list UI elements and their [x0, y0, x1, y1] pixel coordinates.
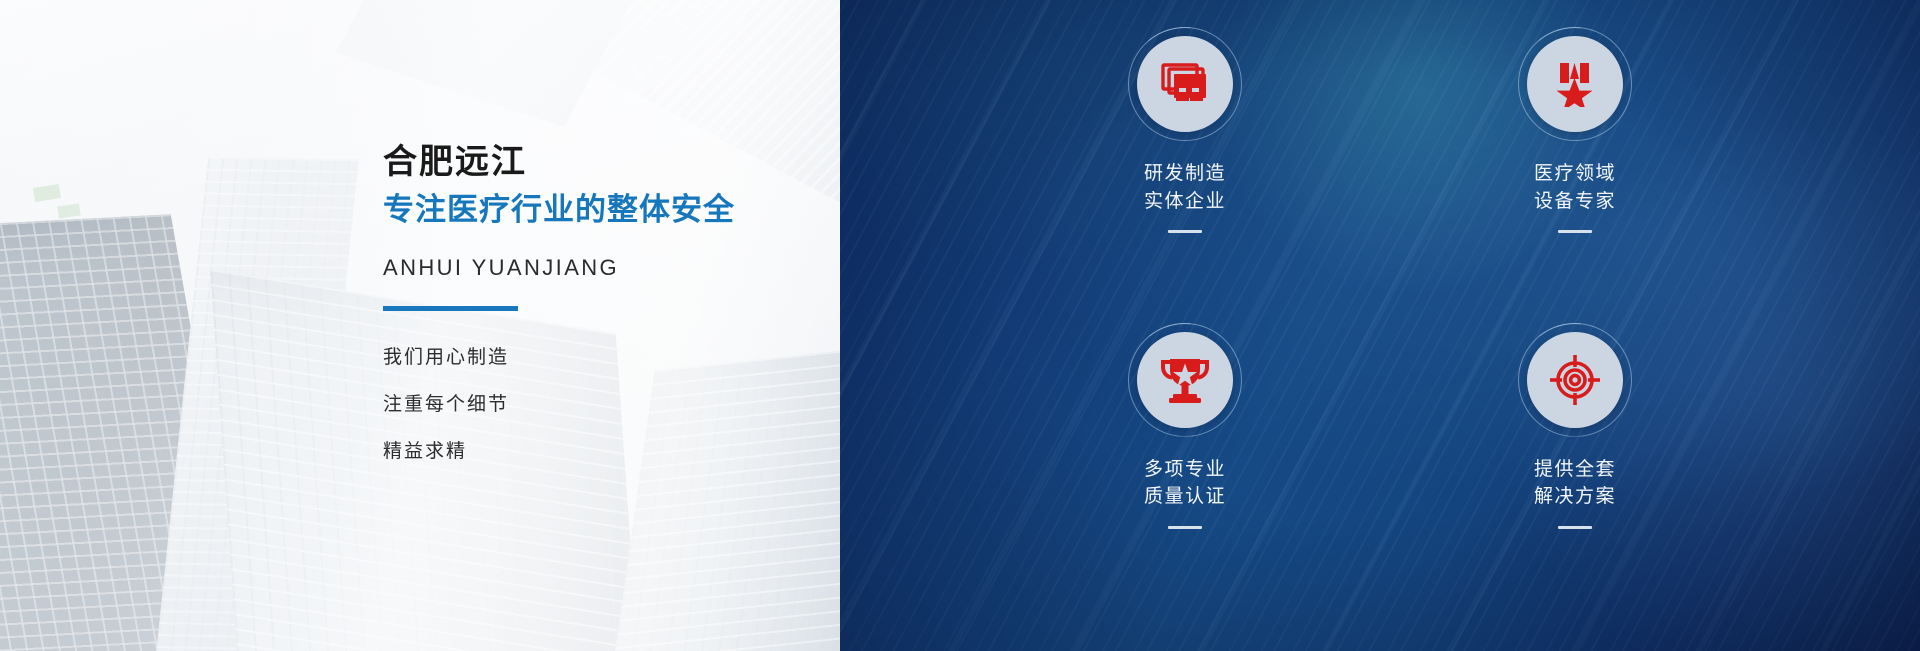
- feature-label-line1: 多项专业: [1144, 456, 1226, 484]
- list-item: 注重每个细节: [383, 395, 813, 414]
- feature-item-rd-manufacturing[interactable]: 研发制造 实体企业: [990, 36, 1380, 332]
- feature-item-medical-expert[interactable]: 医疗领域 设备专家: [1380, 36, 1770, 332]
- company-name-title: 合肥远江: [383, 140, 813, 186]
- list-item: 精益求精: [383, 442, 813, 461]
- feature-label-line2: 实体企业: [1144, 188, 1226, 216]
- hero-banner: 合肥远江 专注医疗行业的整体安全 ANHUI YUANJIANG 我们用心制造 …: [0, 0, 1920, 651]
- trophy-star-icon: [1160, 356, 1210, 404]
- feature-underline: [1168, 526, 1202, 529]
- feature-icon-wrap: [1527, 36, 1623, 132]
- feature-icon-wrap: [1527, 332, 1623, 428]
- value-points-list: 我们用心制造 注重每个细节 精益求精: [383, 348, 813, 461]
- feature-icon-wrap: [1137, 36, 1233, 132]
- feature-label-line1: 研发制造: [1144, 160, 1226, 188]
- feature-label-line1: 医疗领域: [1534, 160, 1616, 188]
- feature-underline: [1558, 526, 1592, 529]
- feature-label: 研发制造 实体企业: [1144, 160, 1226, 215]
- feature-underline: [1168, 230, 1202, 233]
- accent-divider-rule: [383, 306, 518, 311]
- feature-icon-wrap: [1137, 332, 1233, 428]
- list-item: 我们用心制造: [383, 348, 813, 367]
- feature-label-line2: 设备专家: [1534, 188, 1616, 216]
- feature-label: 提供全套 解决方案: [1534, 456, 1616, 511]
- feature-label: 医疗领域 设备专家: [1534, 160, 1616, 215]
- icon-disc: [1137, 332, 1233, 428]
- company-tagline: 专注医疗行业的整体安全: [383, 188, 813, 231]
- feature-label-line2: 解决方案: [1534, 483, 1616, 511]
- target-crosshair-icon: [1549, 354, 1601, 406]
- medal-star-icon: [1552, 61, 1598, 107]
- feature-underline: [1558, 230, 1592, 233]
- hero-copy-block: 合肥远江 专注医疗行业的整体安全 ANHUI YUANJIANG 我们用心制造 …: [383, 140, 813, 489]
- factory-stack-icon: [1160, 63, 1210, 105]
- icon-disc: [1137, 36, 1233, 132]
- feature-label-line2: 质量认证: [1144, 483, 1226, 511]
- feature-label-line1: 提供全套: [1534, 456, 1616, 484]
- feature-label: 多项专业 质量认证: [1144, 456, 1226, 511]
- feature-item-full-solution[interactable]: 提供全套 解决方案: [1380, 332, 1770, 628]
- right-features-panel: 研发制造 实体企业: [840, 0, 1920, 651]
- company-name-pinyin: ANHUI YUANJIANG: [383, 255, 813, 281]
- feature-item-quality-certifications[interactable]: 多项专业 质量认证: [990, 332, 1380, 628]
- feature-grid: 研发制造 实体企业: [840, 0, 1920, 651]
- icon-disc: [1527, 36, 1623, 132]
- icon-disc: [1527, 332, 1623, 428]
- left-hero-panel: 合肥远江 专注医疗行业的整体安全 ANHUI YUANJIANG 我们用心制造 …: [0, 0, 840, 651]
